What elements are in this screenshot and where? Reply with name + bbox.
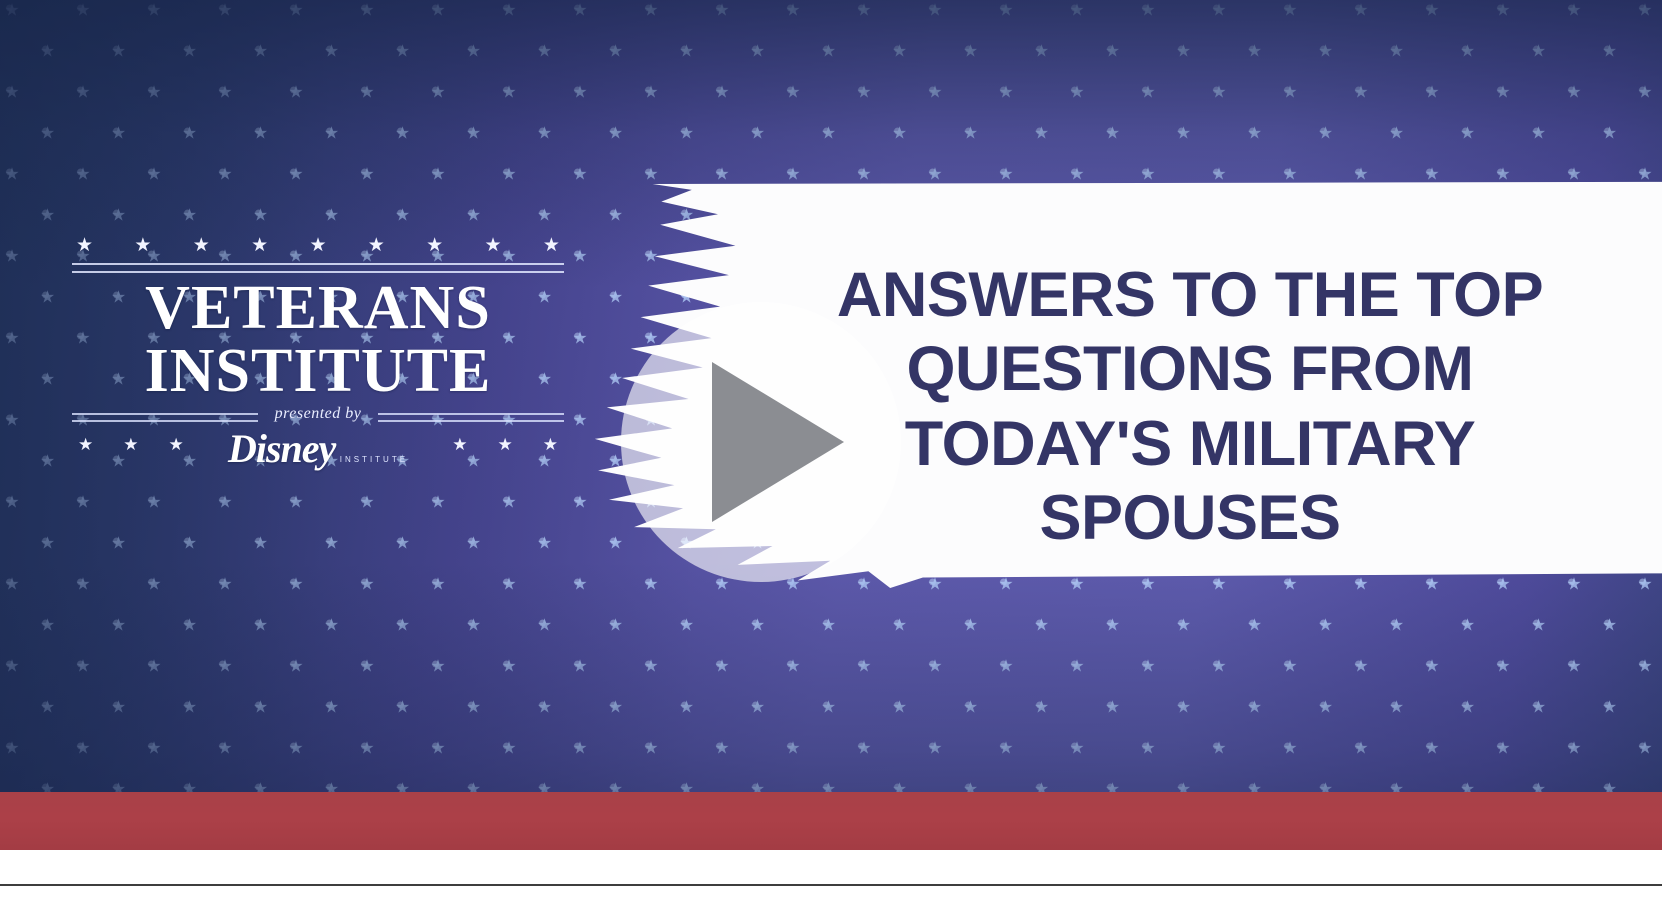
logo-stars-top-row: ★★★★★★★★★ <box>72 236 564 263</box>
star-icon: ★ <box>426 236 443 255</box>
star-icon: ★ <box>78 435 93 455</box>
logo-stars-left: ★★★ <box>78 435 184 455</box>
presented-by-label: presented by <box>275 405 362 423</box>
star-icon: ★ <box>498 435 513 455</box>
disney-logo: Disney INSTITUTE <box>228 429 408 469</box>
page-white-strip <box>0 850 1662 922</box>
star-icon: ★ <box>193 236 210 255</box>
sponsor-row: ★★★ Disney INSTITUTE ★★★ <box>72 429 564 491</box>
star-icon: ★ <box>543 435 558 455</box>
play-triangle-icon <box>712 362 844 522</box>
video-poster-frame[interactable]: ★★★★★★★★★★★★★★★★★★★★★★★★★★★★★★★★★★★★★★★★… <box>0 0 1662 850</box>
star-icon: ★ <box>251 236 268 255</box>
logo-rule-top <box>72 263 564 273</box>
logo-stars-right: ★★★ <box>452 435 558 455</box>
logo-word-veterans: VETERANS <box>72 277 564 340</box>
star-icon: ★ <box>134 236 151 255</box>
veterans-institute-logo: ★★★★★★★★★ VETERANS INSTITUTE presented b… <box>72 236 564 491</box>
play-button[interactable] <box>621 302 901 582</box>
red-stripe <box>0 792 1662 850</box>
star-icon: ★ <box>169 435 184 455</box>
star-icon: ★ <box>76 236 93 255</box>
presented-by-rule-left <box>72 413 258 422</box>
presented-by-rule-right <box>378 413 564 422</box>
video-player[interactable]: ★★★★★★★★★★★★★★★★★★★★★★★★★★★★★★★★★★★★★★★★… <box>0 0 1662 922</box>
star-icon: ★ <box>452 435 467 455</box>
star-icon: ★ <box>309 236 326 255</box>
presented-by-row: presented by <box>72 409 564 425</box>
logo-word-institute: INSTITUTE <box>72 340 564 403</box>
disney-sub-label: INSTITUTE <box>340 455 408 464</box>
page-bottom-divider <box>0 884 1662 886</box>
star-icon: ★ <box>543 236 560 255</box>
star-icon: ★ <box>123 435 138 455</box>
star-icon: ★ <box>485 236 502 255</box>
star-icon: ★ <box>368 236 385 255</box>
disney-wordmark: Disney <box>228 426 335 471</box>
